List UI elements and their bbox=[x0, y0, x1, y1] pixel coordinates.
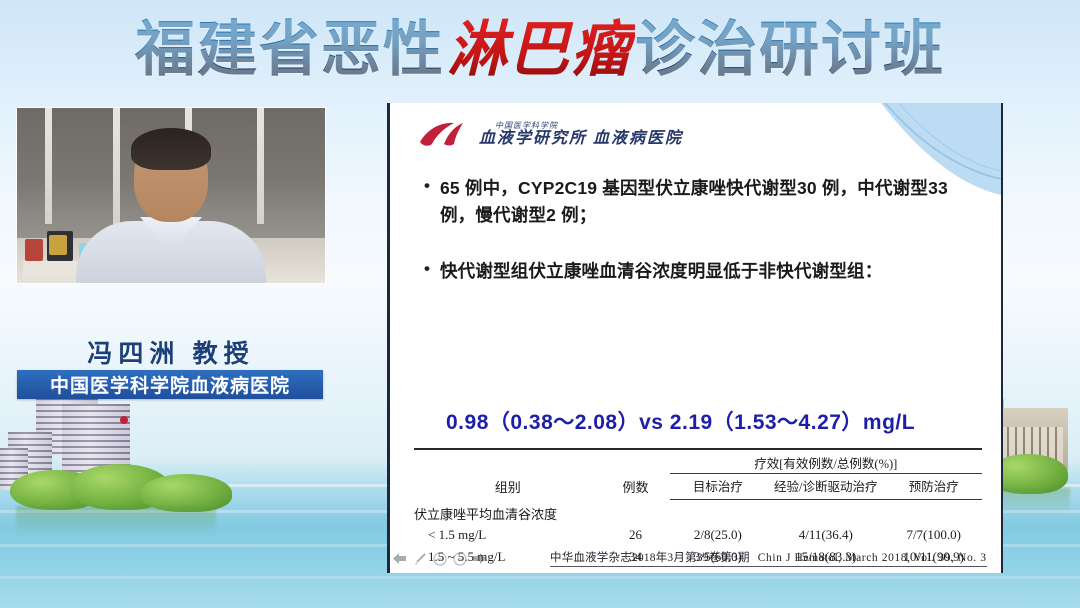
concentration-statistic: 0.98（0.38～2.08）vs 2.19（1.53～4.27）mg/L bbox=[446, 406, 915, 436]
bullet-marker-icon: • bbox=[424, 258, 430, 285]
bullet-item-1: • 65 例中，CYP2C19 基因型伏立康唑快代谢型30 例，中代谢型33 例… bbox=[424, 175, 972, 229]
row-label: > 5.5 mg/L bbox=[414, 568, 601, 573]
presenter-hair bbox=[131, 128, 211, 170]
presenter-name: 冯四洲 教授 bbox=[17, 334, 325, 370]
bullet-text-1: 65 例中，CYP2C19 基因型伏立康唑快代谢型30 例，中代谢型33 例，慢… bbox=[440, 175, 972, 229]
header-efficacy-span: 疗效[有效例数/总例数(%)] bbox=[670, 449, 982, 474]
row-label: < 1.5 mg/L bbox=[414, 524, 601, 546]
options-icon[interactable] bbox=[452, 551, 467, 566]
table-row: < 1.5 mg/L 26 2/8(25.0) 4/11(36.4) 7/7(1… bbox=[414, 524, 982, 546]
bullet-item-2: • 快代谢型组伏立康唑血清谷浓度明显低于非快代谢型组： bbox=[424, 258, 980, 285]
row-targeted: 2/3(66.7) bbox=[670, 568, 767, 573]
header-targeted: 目标治疗 bbox=[670, 474, 767, 500]
presentation-stream: 福建省恶性淋巴瘤诊治研讨班 冯四洲 教授 中国医学科学院血液病医院 bbox=[0, 0, 1080, 608]
row-prophylactic: 7/7(100.0) bbox=[885, 524, 982, 546]
logo-main-text: 血液学研究所 血液病医院 bbox=[479, 131, 683, 148]
table-row: > 5.5 mg/L 5 2/3(66.7) 1/2(50.0) 无病例 bbox=[414, 568, 982, 573]
previous-arrow-icon[interactable] bbox=[392, 551, 407, 566]
citation-chinese: 中华血液学杂志2018年3月第39卷第3期 bbox=[550, 552, 750, 564]
next-arrow-icon[interactable] bbox=[472, 551, 487, 566]
row-cases: 26 bbox=[601, 524, 669, 546]
pen-icon[interactable] bbox=[412, 551, 427, 566]
header-cases: 例数 bbox=[601, 449, 669, 500]
bullet-text-2: 快代谢型组伏立康唑血清谷浓度明显低于非快代谢型组： bbox=[440, 258, 883, 285]
title-part-two: 诊治研讨班 bbox=[635, 17, 945, 83]
table-group-label-row: 伏立康唑平均血清谷浓度 bbox=[414, 500, 982, 525]
journal-citation: 中华血液学杂志2018年3月第39卷第3期Chin J Hematol, Mar… bbox=[550, 549, 987, 567]
slide-content[interactable]: 中国医学科学院 血液学研究所 血液病医院 • 65 例中，CYP2C19 基因型… bbox=[387, 103, 1003, 573]
bullet-marker-icon: • bbox=[424, 175, 430, 229]
event-title-banner: 福建省恶性淋巴瘤诊治研讨班 bbox=[0, 0, 1080, 100]
header-prophylactic: 预防治疗 bbox=[885, 474, 982, 500]
table-header-row-1: 组别 例数 疗效[有效例数/总例数(%)] bbox=[414, 449, 982, 474]
hospital-building-image bbox=[0, 386, 250, 516]
row-prophylactic: 无病例 bbox=[885, 568, 982, 573]
institution-logo: 中国医学科学院 血液学研究所 血液病医院 bbox=[418, 113, 683, 157]
row-targeted: 2/8(25.0) bbox=[670, 524, 767, 546]
header-empirical: 经验/诊断驱动治疗 bbox=[766, 474, 885, 500]
logo-mark-icon bbox=[418, 120, 470, 150]
page-title: 福建省恶性淋巴瘤诊治研讨班 bbox=[135, 20, 945, 80]
citation-english: Chin J Hematol, March 2018, Vol. 39, No.… bbox=[758, 552, 987, 564]
title-part-one: 福建省恶性 bbox=[135, 17, 445, 83]
row-cases: 5 bbox=[601, 568, 669, 573]
slide-menu-icon[interactable] bbox=[432, 551, 447, 566]
presenter-affiliation: 中国医学科学院血液病医院 bbox=[17, 370, 323, 399]
presenter-webcam[interactable] bbox=[17, 108, 325, 283]
header-group: 组别 bbox=[414, 449, 601, 500]
title-highlight: 淋巴瘤 bbox=[445, 17, 635, 83]
row-empirical: 1/2(50.0) bbox=[766, 568, 885, 573]
group-label: 伏立康唑平均血清谷浓度 bbox=[414, 500, 982, 525]
row-empirical: 4/11(36.4) bbox=[766, 524, 885, 546]
presentation-controls[interactable] bbox=[392, 551, 487, 566]
